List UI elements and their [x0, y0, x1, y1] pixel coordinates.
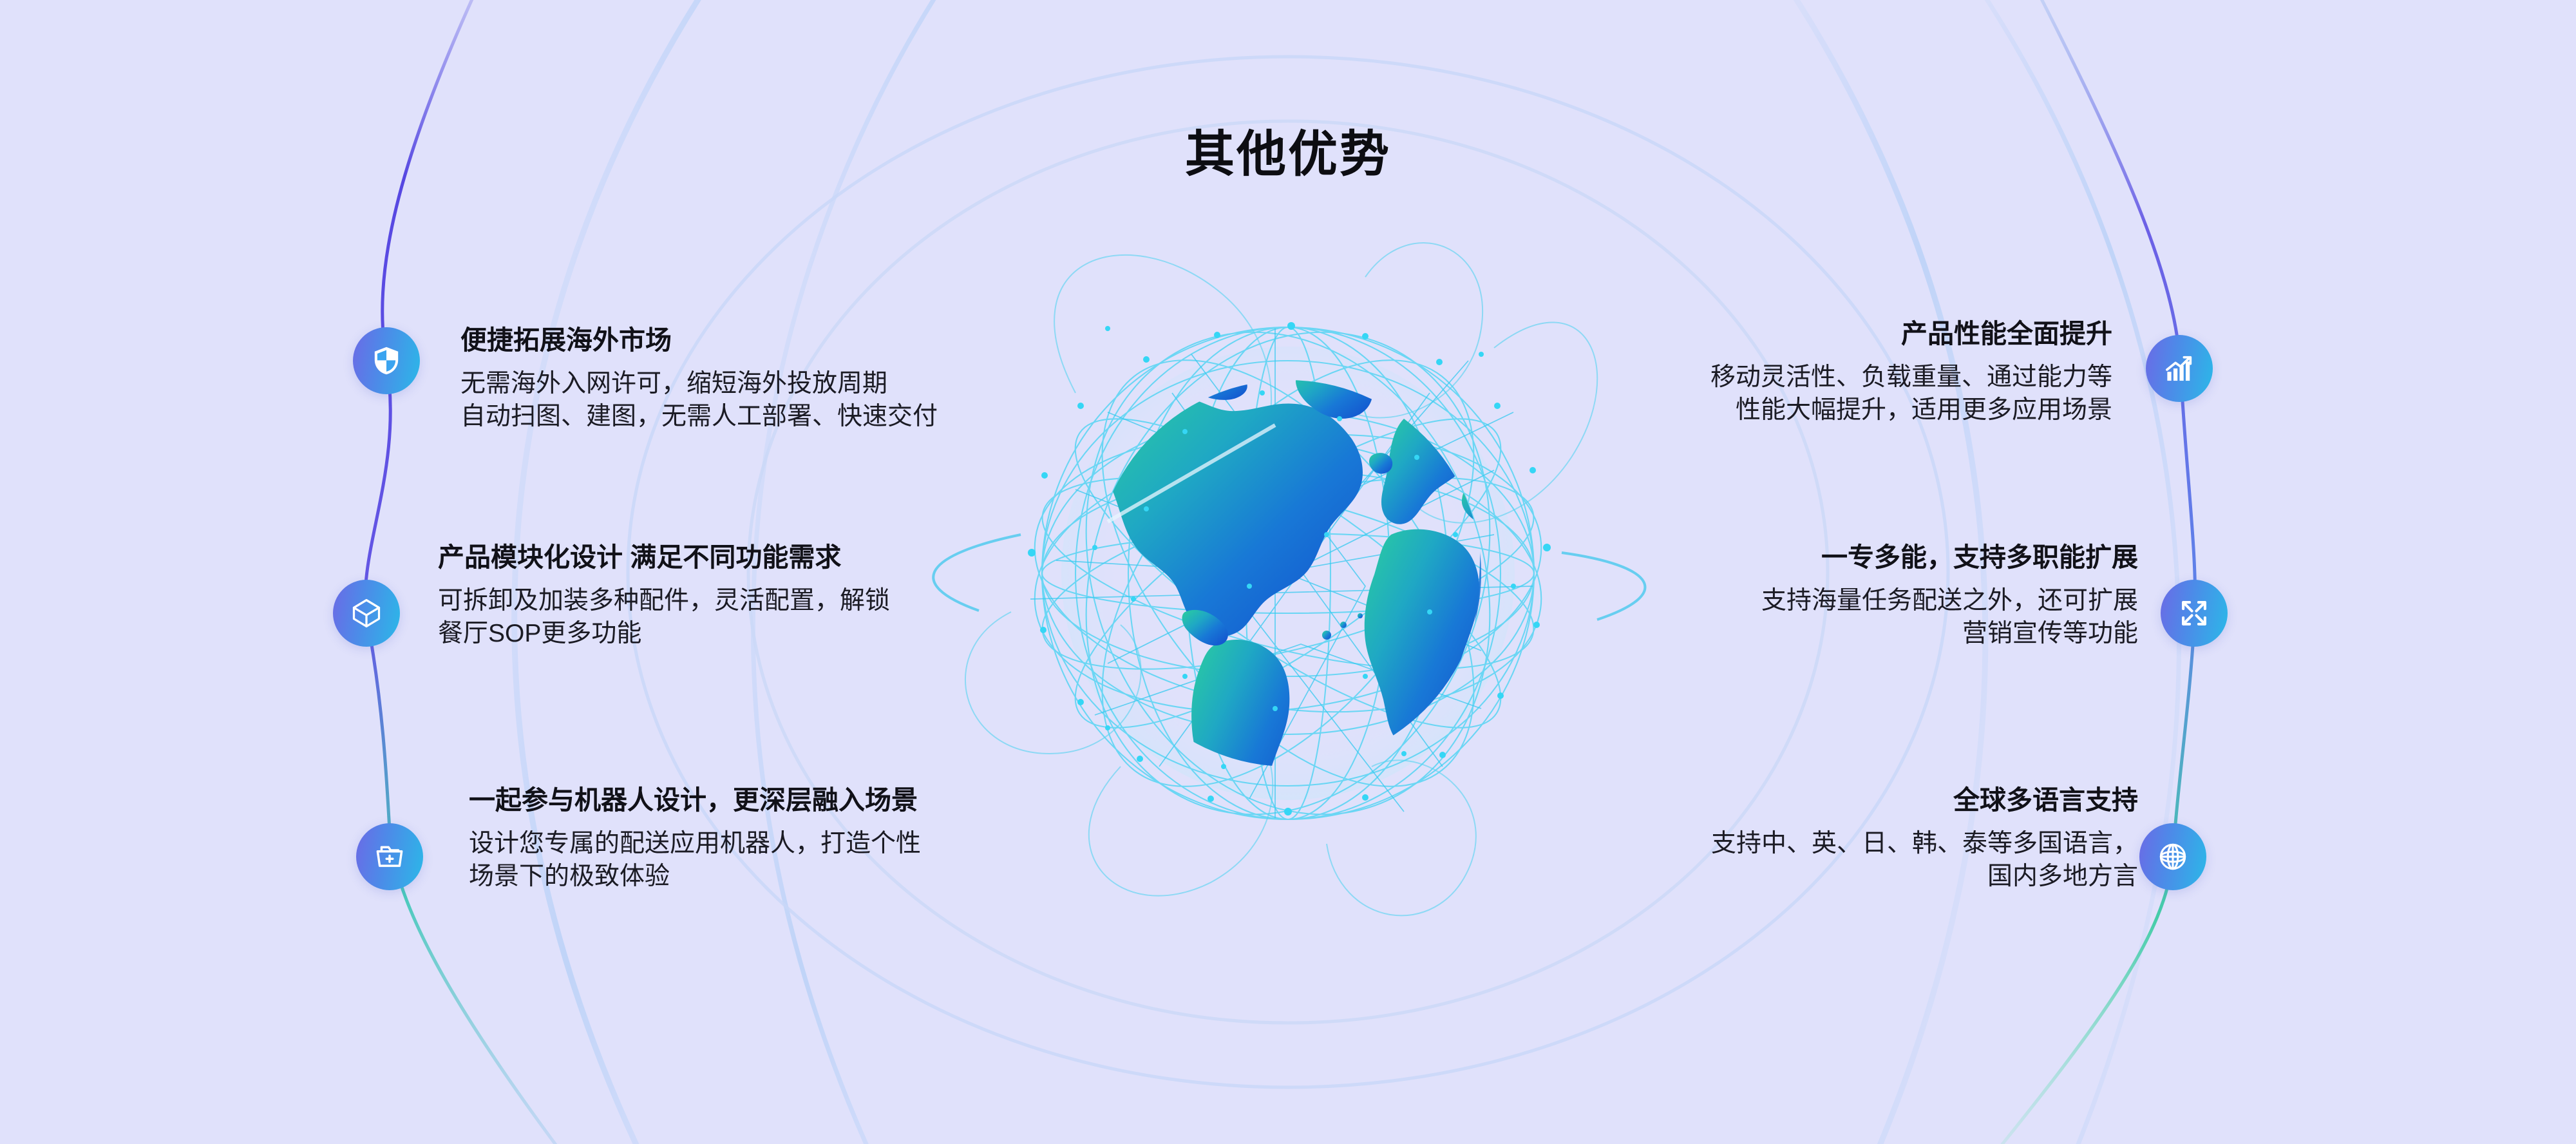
feature-badge-cube[interactable] — [333, 580, 400, 647]
feature-desc-line: 设计您专属的配送应用机器人，打造个性 — [469, 828, 1184, 861]
feature-title: 一起参与机器人设计，更深层融入场景 — [469, 787, 1184, 814]
shield-icon — [370, 344, 403, 377]
feature-desc-line: 场景下的极致体验 — [469, 861, 1184, 893]
expand-arrows-icon — [2177, 596, 2211, 630]
cube-icon — [350, 596, 383, 630]
feature-desc-line: 餐厅SOP更多功能 — [438, 618, 1153, 651]
feature-desc-line: 营销宣传等功能 — [1430, 618, 2138, 651]
page-title: 其他优势 — [0, 115, 2576, 186]
feature-desc-line: 移动灵活性、负载重量、通过能力等 — [1404, 361, 2112, 394]
globe-icon — [2156, 840, 2190, 873]
feature-item-left-1: 便捷拓展海外市场 无需海外入网许可，缩短海外投放周期 自动扫图、建图，无需人工部… — [460, 327, 1175, 433]
feature-item-left-2: 产品模块化设计 满足不同功能需求 可拆卸及加装多种配件，灵活配置，解锁 餐厅SO… — [438, 544, 1153, 650]
feature-item-right-3: 全球多语言支持 支持中、英、日、韩、泰等多国语言， 国内多地方言 — [1430, 787, 2138, 893]
feature-badge-shield[interactable] — [353, 327, 420, 394]
feature-title: 全球多语言支持 — [1430, 787, 2138, 814]
feature-desc-line: 支持中、英、日、韩、泰等多国语言， — [1430, 828, 2138, 861]
feature-title: 便捷拓展海外市场 — [460, 327, 1175, 354]
growth-chart-icon — [2163, 352, 2196, 385]
feature-desc-line: 国内多地方言 — [1430, 861, 2138, 893]
feature-item-right-1: 产品性能全面提升 移动灵活性、负载重量、通过能力等 性能大幅提升，适用更多应用场… — [1404, 321, 2112, 426]
feature-desc-line: 无需海外入网许可，缩短海外投放周期 — [460, 368, 1175, 401]
feature-title: 产品性能全面提升 — [1404, 321, 2112, 347]
feature-title: 一专多能，支持多职能扩展 — [1430, 544, 2138, 571]
feature-desc-line: 自动扫图、建图，无需人工部署、快速交付 — [460, 401, 1175, 434]
feature-badge-growth-chart[interactable] — [2146, 335, 2213, 402]
feature-badge-folder-plus[interactable] — [356, 823, 423, 890]
feature-item-left-3: 一起参与机器人设计，更深层融入场景 设计您专属的配送应用机器人，打造个性 场景下… — [469, 787, 1184, 893]
feature-title: 产品模块化设计 满足不同功能需求 — [438, 544, 1153, 571]
feature-desc-line: 性能大幅提升，适用更多应用场景 — [1404, 394, 2112, 427]
folder-plus-icon — [373, 840, 406, 873]
feature-desc-line: 支持海量任务配送之外，还可扩展 — [1430, 585, 2138, 618]
feature-badge-expand-arrows[interactable] — [2161, 580, 2228, 647]
advantages-section: 其他优势 便捷拓展海外市场 无需海外入网许可，缩短海外投放周期 自动扫图、建图，… — [0, 0, 2576, 1144]
feature-item-right-2: 一专多能，支持多职能扩展 支持海量任务配送之外，还可扩展 营销宣传等功能 — [1430, 544, 2138, 650]
feature-badge-globe[interactable] — [2139, 823, 2206, 890]
feature-desc-line: 可拆卸及加装多种配件，灵活配置，解锁 — [438, 585, 1153, 618]
